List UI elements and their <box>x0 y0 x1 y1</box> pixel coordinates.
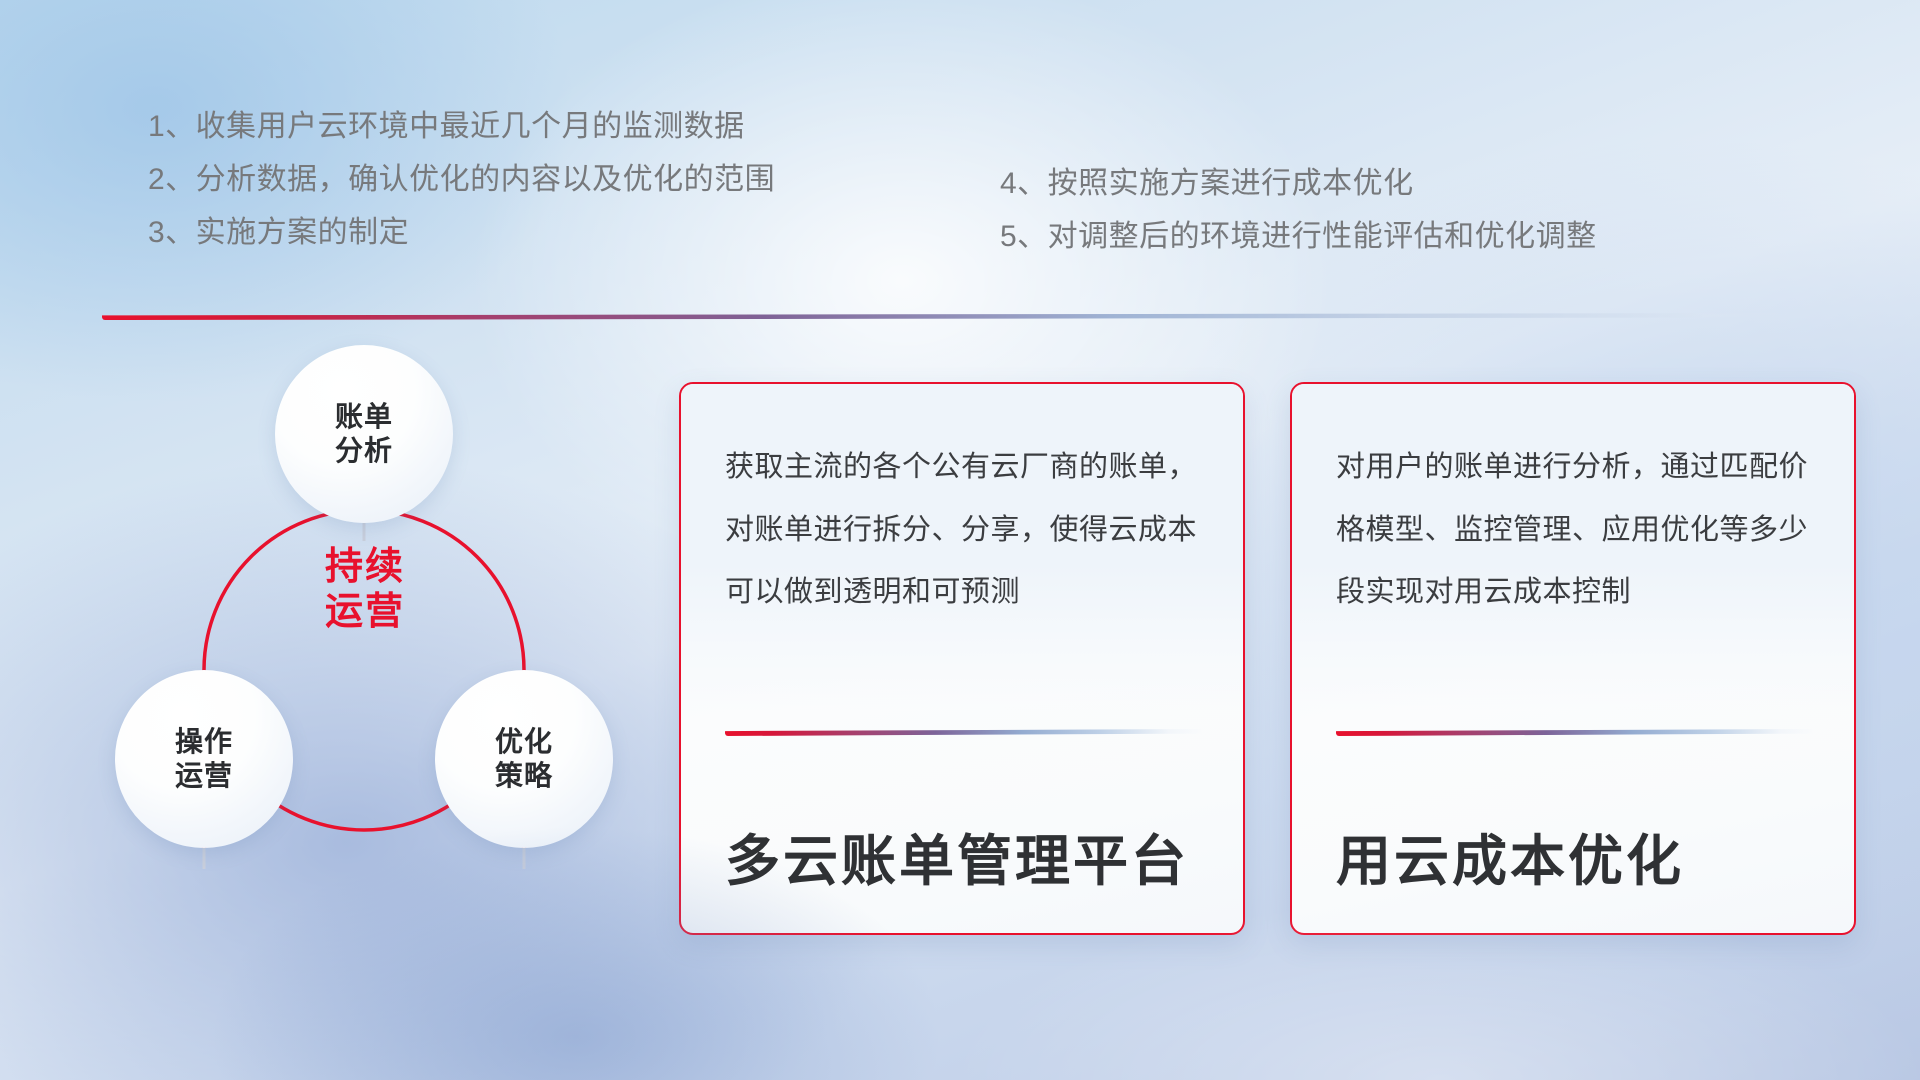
card-title: 多云账单管理平台 <box>725 816 1189 896</box>
cycle-node-label-line2: 运营 <box>175 759 233 793</box>
card-divider <box>1336 729 1814 736</box>
card-content: 获取主流的各个公有云厂商的账单，对账单进行拆分、分享，使得云成本可以做到透明和可… <box>681 384 1243 624</box>
cycle-center-line2: 运营 <box>275 590 455 635</box>
cycle-node-label-line1: 操作 <box>175 725 233 759</box>
bullet-item: 5、对调整后的环境进行性能评估和优化调整 <box>1000 210 1597 263</box>
card-content: 对用户的账单进行分析，通过匹配价格模型、监控管理、应用优化等多少段实现对用云成本… <box>1292 384 1854 624</box>
bullet-text: 1、收集用户云环境中最近几个月的监测数据 <box>148 112 745 142</box>
bullet-text: 3、实施方案的制定 <box>148 218 409 248</box>
cycle-diagram: 账单 分析 操作 运营 优化 策略 持续 运营 <box>100 345 660 965</box>
cycle-node-label-line2: 分析 <box>335 434 393 468</box>
bullet-item: 3、实施方案的制定 <box>148 206 775 259</box>
bullet-list-right: 4、按照实施方案进行成本优化 5、对调整后的环境进行性能评估和优化调整 <box>1000 157 1597 263</box>
cycle-node-label: 账单 分析 <box>335 400 393 468</box>
bullet-list-left: 1、收集用户云环境中最近几个月的监测数据 2、分析数据，确认优化的内容以及优化的… <box>148 100 775 259</box>
card-divider <box>725 729 1203 736</box>
cycle-center-line1: 持续 <box>275 545 455 590</box>
cycle-node-operations[interactable]: 操作 运营 <box>115 670 293 848</box>
card-title: 用云成本优化 <box>1336 816 1684 896</box>
card-body-text: 获取主流的各个公有云厂商的账单，对账单进行拆分、分享，使得云成本可以做到透明和可… <box>725 436 1199 624</box>
bullet-text: 2、分析数据，确认优化的内容以及优化的范围 <box>148 165 775 195</box>
slide-canvas: 1、收集用户云环境中最近几个月的监测数据 2、分析数据，确认优化的内容以及优化的… <box>0 0 1920 1080</box>
feature-card-cloud-cost-optimization[interactable]: 对用户的账单进行分析，通过匹配价格模型、监控管理、应用优化等多少段实现对用云成本… <box>1290 382 1856 935</box>
cycle-node-billing-analysis[interactable]: 账单 分析 <box>275 345 453 523</box>
bullet-text: 5、对调整后的环境进行性能评估和优化调整 <box>1000 222 1597 252</box>
card-body-text: 对用户的账单进行分析，通过匹配价格模型、监控管理、应用优化等多少段实现对用云成本… <box>1336 436 1810 624</box>
header-divider <box>102 313 1842 320</box>
cycle-node-optimization-strategy[interactable]: 优化 策略 <box>435 670 613 848</box>
bullet-item: 1、收集用户云环境中最近几个月的监测数据 <box>148 100 775 153</box>
feature-card-multicloud-billing[interactable]: 获取主流的各个公有云厂商的账单，对账单进行拆分、分享，使得云成本可以做到透明和可… <box>679 382 1245 935</box>
cycle-center-label: 持续 运营 <box>275 545 455 635</box>
cycle-node-label-line2: 策略 <box>495 759 553 793</box>
bullet-item: 4、按照实施方案进行成本优化 <box>1000 157 1597 210</box>
cycle-node-label: 操作 运营 <box>175 725 233 793</box>
bullet-item: 2、分析数据，确认优化的内容以及优化的范围 <box>148 153 775 206</box>
bullet-text: 4、按照实施方案进行成本优化 <box>1000 169 1414 199</box>
cycle-node-label: 优化 策略 <box>495 725 553 793</box>
cycle-node-label-line1: 账单 <box>335 400 393 434</box>
cycle-node-label-line1: 优化 <box>495 725 553 759</box>
